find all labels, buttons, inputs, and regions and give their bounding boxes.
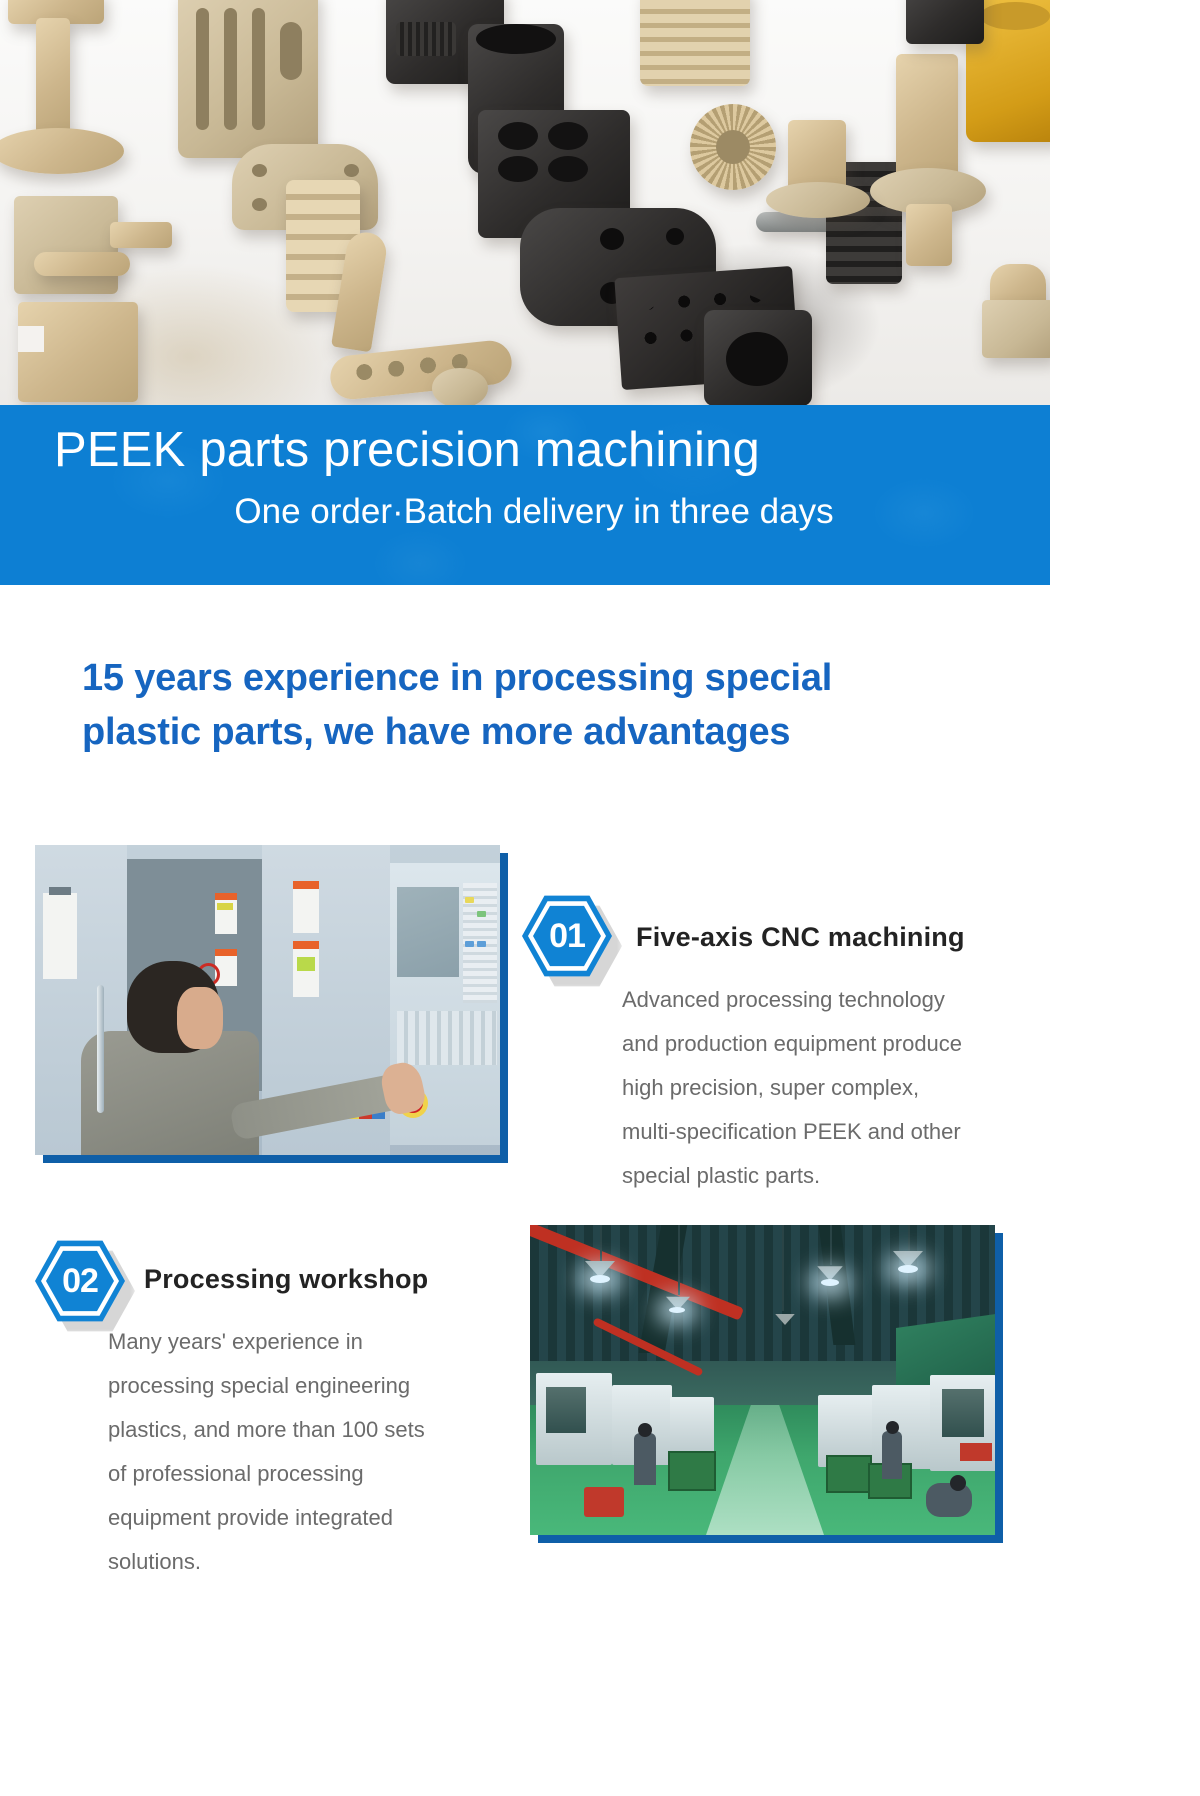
part-notch xyxy=(18,326,44,352)
part-flange-hole-2 xyxy=(344,164,359,177)
part-cage-slot-2 xyxy=(224,8,237,130)
part-manifold-bore-3 xyxy=(498,156,538,182)
lamp-cord-5 xyxy=(782,1225,784,1311)
machine-red-panel xyxy=(960,1443,992,1461)
feature-01-body: Advanced processing technology and produ… xyxy=(622,978,1042,1198)
feature-01-body-line-2: and production equipment produce xyxy=(622,1022,1042,1066)
part-corner-block xyxy=(906,0,984,44)
lamp-shade-5 xyxy=(775,1314,795,1325)
part-gear-bore xyxy=(716,130,750,164)
lamp-cord-1 xyxy=(600,1225,602,1261)
lamp-cord-2 xyxy=(678,1225,680,1295)
banner-title: PEEK parts precision machining xyxy=(54,425,1014,477)
operator-face xyxy=(177,987,223,1049)
worker-2 xyxy=(882,1431,902,1479)
feature-02-body-line-5: equipment provide integrated xyxy=(108,1496,508,1540)
clipboard-clip xyxy=(49,887,71,895)
part-flange-hole-1 xyxy=(252,164,267,177)
part-bushing-stem xyxy=(906,204,952,266)
part-manifold-bore-1 xyxy=(498,122,538,150)
machine-left-3 xyxy=(670,1397,714,1459)
feature-02-body-line-1: Many years' experience in xyxy=(108,1320,508,1364)
workshop-cart-2 xyxy=(826,1455,872,1493)
cabinet-handle xyxy=(97,985,104,1113)
feature-01-body-line-4: multi-specification PEEK and other xyxy=(622,1110,1042,1154)
part-ribbed-bushing xyxy=(640,0,750,86)
red-cart xyxy=(584,1487,624,1517)
feature-02-badge: 02 xyxy=(35,1238,125,1324)
feature-02-title: Processing workshop xyxy=(144,1264,428,1295)
cnc-screen xyxy=(397,887,459,977)
part-threaded-nose xyxy=(396,22,456,56)
banner-subtitle: One order·Batch delivery in three days xyxy=(54,493,1014,532)
feature-01-body-line-1: Advanced processing technology xyxy=(622,978,1042,1022)
feature-02-body: Many years' experience in processing spe… xyxy=(108,1320,508,1584)
feature-02-body-line-3: plastics, and more than 100 sets xyxy=(108,1408,508,1452)
hero-banner: PEEK parts precision machining One order… xyxy=(0,405,1050,585)
feature-01-title: Five-axis CNC machining xyxy=(636,922,965,953)
cnc-key-blue-2[interactable] xyxy=(477,941,486,947)
part-flanged-bushing xyxy=(896,54,958,184)
part-tube-bore xyxy=(476,24,556,54)
workshop-photo xyxy=(530,1225,995,1535)
part-fitting-stem xyxy=(34,252,130,276)
hero-product-photo xyxy=(0,0,1050,405)
lamp-cord-4 xyxy=(908,1225,910,1251)
lamp-glow-3 xyxy=(821,1279,839,1286)
warning-label-1 xyxy=(215,893,237,900)
worker-2-head xyxy=(886,1421,899,1434)
worker-3 xyxy=(926,1483,972,1517)
cnc-key-blue-1[interactable] xyxy=(465,941,474,947)
feature-02-body-line-2: processing special engineering xyxy=(108,1364,508,1408)
headline-line-1: 15 years experience in processing specia… xyxy=(82,652,1042,706)
badge-number-01: 01 xyxy=(549,917,585,956)
lamp-cord-3 xyxy=(830,1225,832,1265)
hazard-label xyxy=(297,957,315,971)
feature-01-body-line-3: high precision, super complex, xyxy=(622,1066,1042,1110)
worker-3-head xyxy=(950,1475,966,1491)
badge-number-02: 02 xyxy=(62,1262,98,1301)
machine-left-1-window xyxy=(546,1387,586,1433)
part-block-hole-1 xyxy=(600,228,624,250)
part-manifold-bore-2 xyxy=(548,122,588,150)
section-headline: 15 years experience in processing specia… xyxy=(82,652,1042,760)
cnc-key-green[interactable] xyxy=(477,911,486,917)
workshop-photo-container xyxy=(530,1225,995,1535)
feature-01-badge: 01 xyxy=(522,893,612,979)
part-flange-hole-3 xyxy=(252,198,267,211)
feature-02-body-line-6: solutions. xyxy=(108,1540,508,1584)
part-link-boss xyxy=(432,368,488,405)
feature-02-body-line-4: of professional processing xyxy=(108,1452,508,1496)
feature-01-body-line-5: special plastic parts. xyxy=(622,1154,1042,1198)
headline-line-2: plastic parts, we have more advantages xyxy=(82,706,1042,760)
lamp-glow-1 xyxy=(590,1275,610,1283)
info-label-3 xyxy=(293,889,319,933)
lamp-glow-2 xyxy=(669,1307,685,1313)
cnc-lower-keys[interactable] xyxy=(397,1011,497,1065)
cnc-photo xyxy=(35,845,500,1155)
worker-1-head xyxy=(638,1423,652,1437)
part-manifold-bore-4 xyxy=(548,156,588,182)
part-cage-slot-1 xyxy=(196,8,209,130)
worker-1 xyxy=(634,1433,656,1485)
workshop-cart-1 xyxy=(668,1451,716,1491)
machine-right-3-window xyxy=(942,1389,984,1437)
caution-label-1 xyxy=(217,903,233,910)
warning-label-3 xyxy=(293,881,319,889)
part-notched-plate xyxy=(18,302,138,402)
part-spool-stem xyxy=(36,18,70,138)
part-cage-slot-3 xyxy=(252,8,265,130)
part-square-fitting xyxy=(14,196,118,294)
part-block-hole-3 xyxy=(666,228,684,245)
part-cap-base xyxy=(982,300,1050,358)
part-fitting-nipple xyxy=(110,222,172,248)
part-socket-bore xyxy=(726,332,788,386)
cnc-photo-container xyxy=(35,845,500,1155)
part-tube-tan-flange xyxy=(766,182,870,218)
warning-label-4 xyxy=(293,941,319,949)
clipboard-paper xyxy=(43,893,77,979)
warning-label-2 xyxy=(215,949,237,956)
part-amber-cup-bore xyxy=(980,2,1050,30)
cnc-key-yellow[interactable] xyxy=(465,897,474,903)
part-cage-slot-4 xyxy=(280,22,302,80)
lamp-glow-4 xyxy=(898,1265,918,1273)
